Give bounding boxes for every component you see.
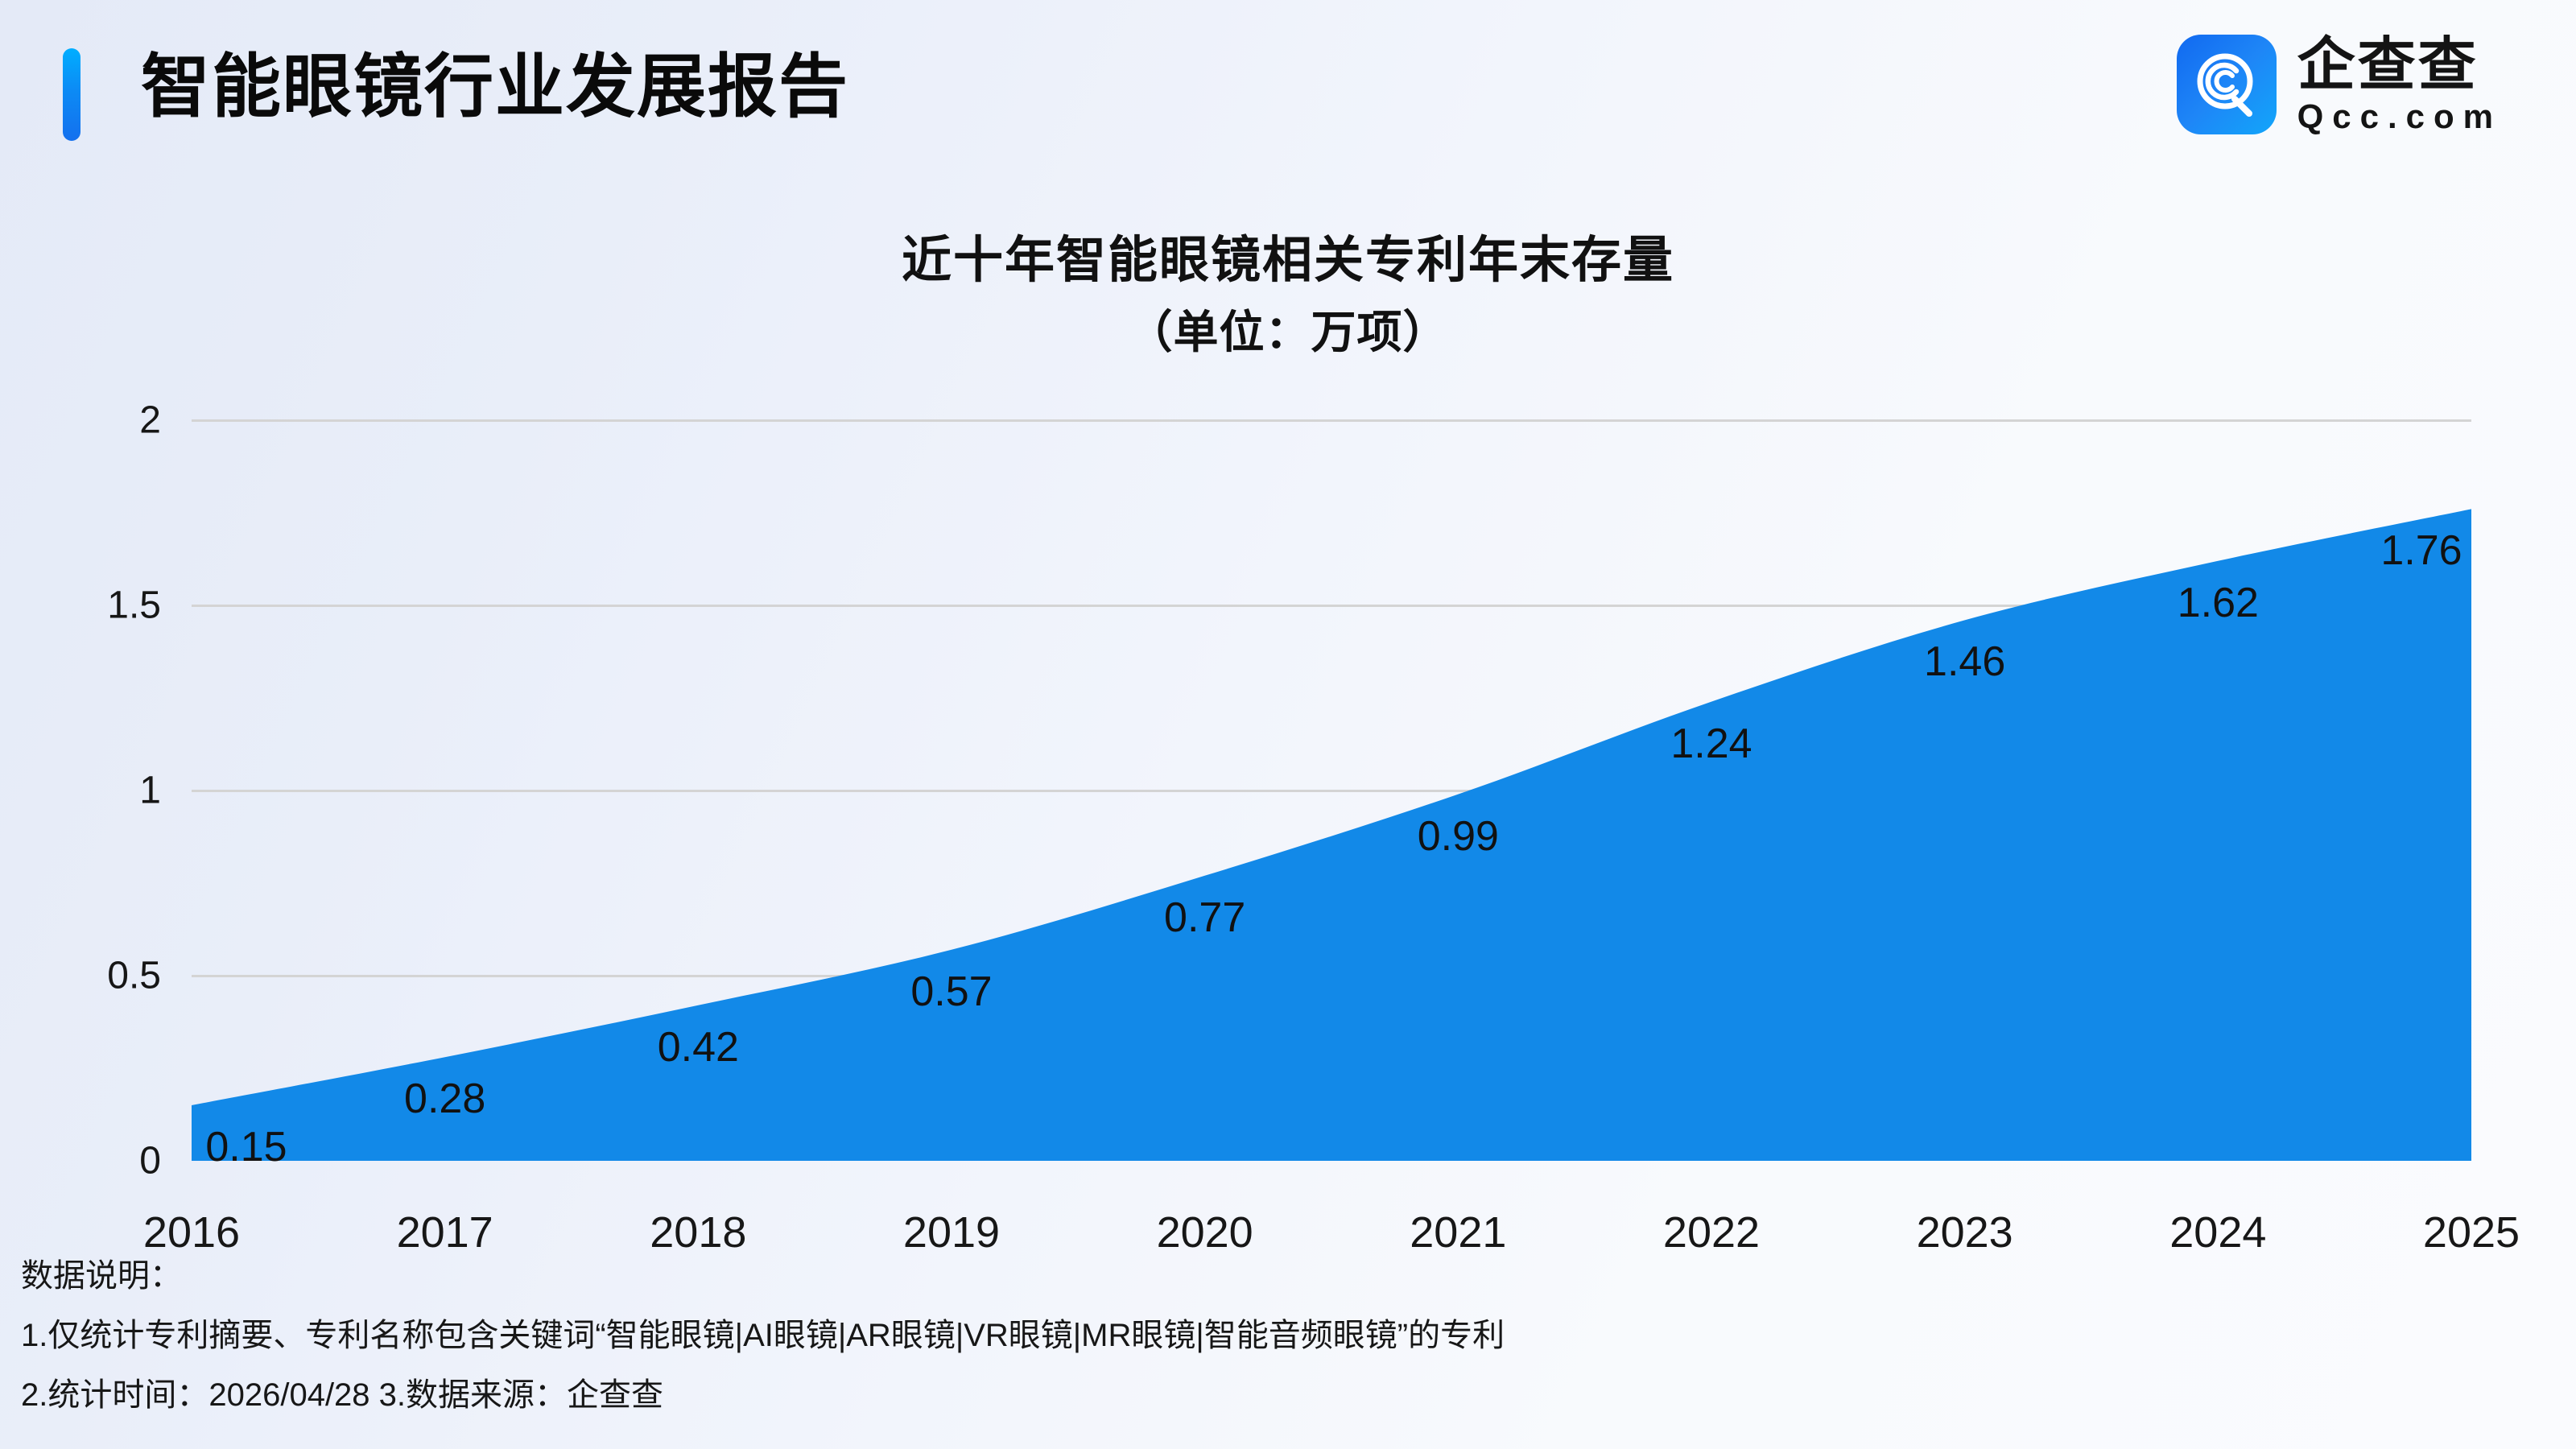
data-point-label: 0.77: [1164, 894, 1245, 942]
area-chart: 00.511.52 0.150.280.420.570.770.991.241.…: [0, 0, 2576, 1449]
area-fill: [192, 509, 2471, 1161]
data-point-label: 0.99: [1418, 812, 1499, 861]
data-point-label: 0.28: [404, 1075, 485, 1123]
data-point-label: 0.15: [205, 1123, 287, 1171]
data-point-label: 1.62: [2178, 579, 2259, 627]
notes-line-1: 1.仅统计专利摘要、专利名称包含关键词“智能眼镜|AI眼镜|AR眼镜|VR眼镜|…: [21, 1306, 1953, 1365]
notes-line-2: 2.统计时间：2026/04/28 3.数据来源：企查查: [21, 1365, 1953, 1425]
data-point-label: 1.24: [1670, 720, 1752, 768]
data-notes: 数据说明： 1.仅统计专利摘要、专利名称包含关键词“智能眼镜|AI眼镜|AR眼镜…: [21, 1246, 1953, 1425]
data-point-label: 0.42: [658, 1023, 739, 1071]
x-axis-tick-label: 2025: [2351, 1207, 2576, 1257]
data-point-label: 1.46: [1924, 638, 2005, 686]
data-point-label: 1.76: [2380, 526, 2462, 575]
data-point-label: 0.57: [910, 968, 992, 1016]
notes-heading: 数据说明：: [21, 1246, 1953, 1306]
x-axis-tick-label: 2024: [2097, 1207, 2339, 1257]
report-page: 智能眼镜行业发展报告 企查查 Qcc.com 近十年智能眼镜相关专利年末存量 （…: [0, 0, 2576, 1449]
